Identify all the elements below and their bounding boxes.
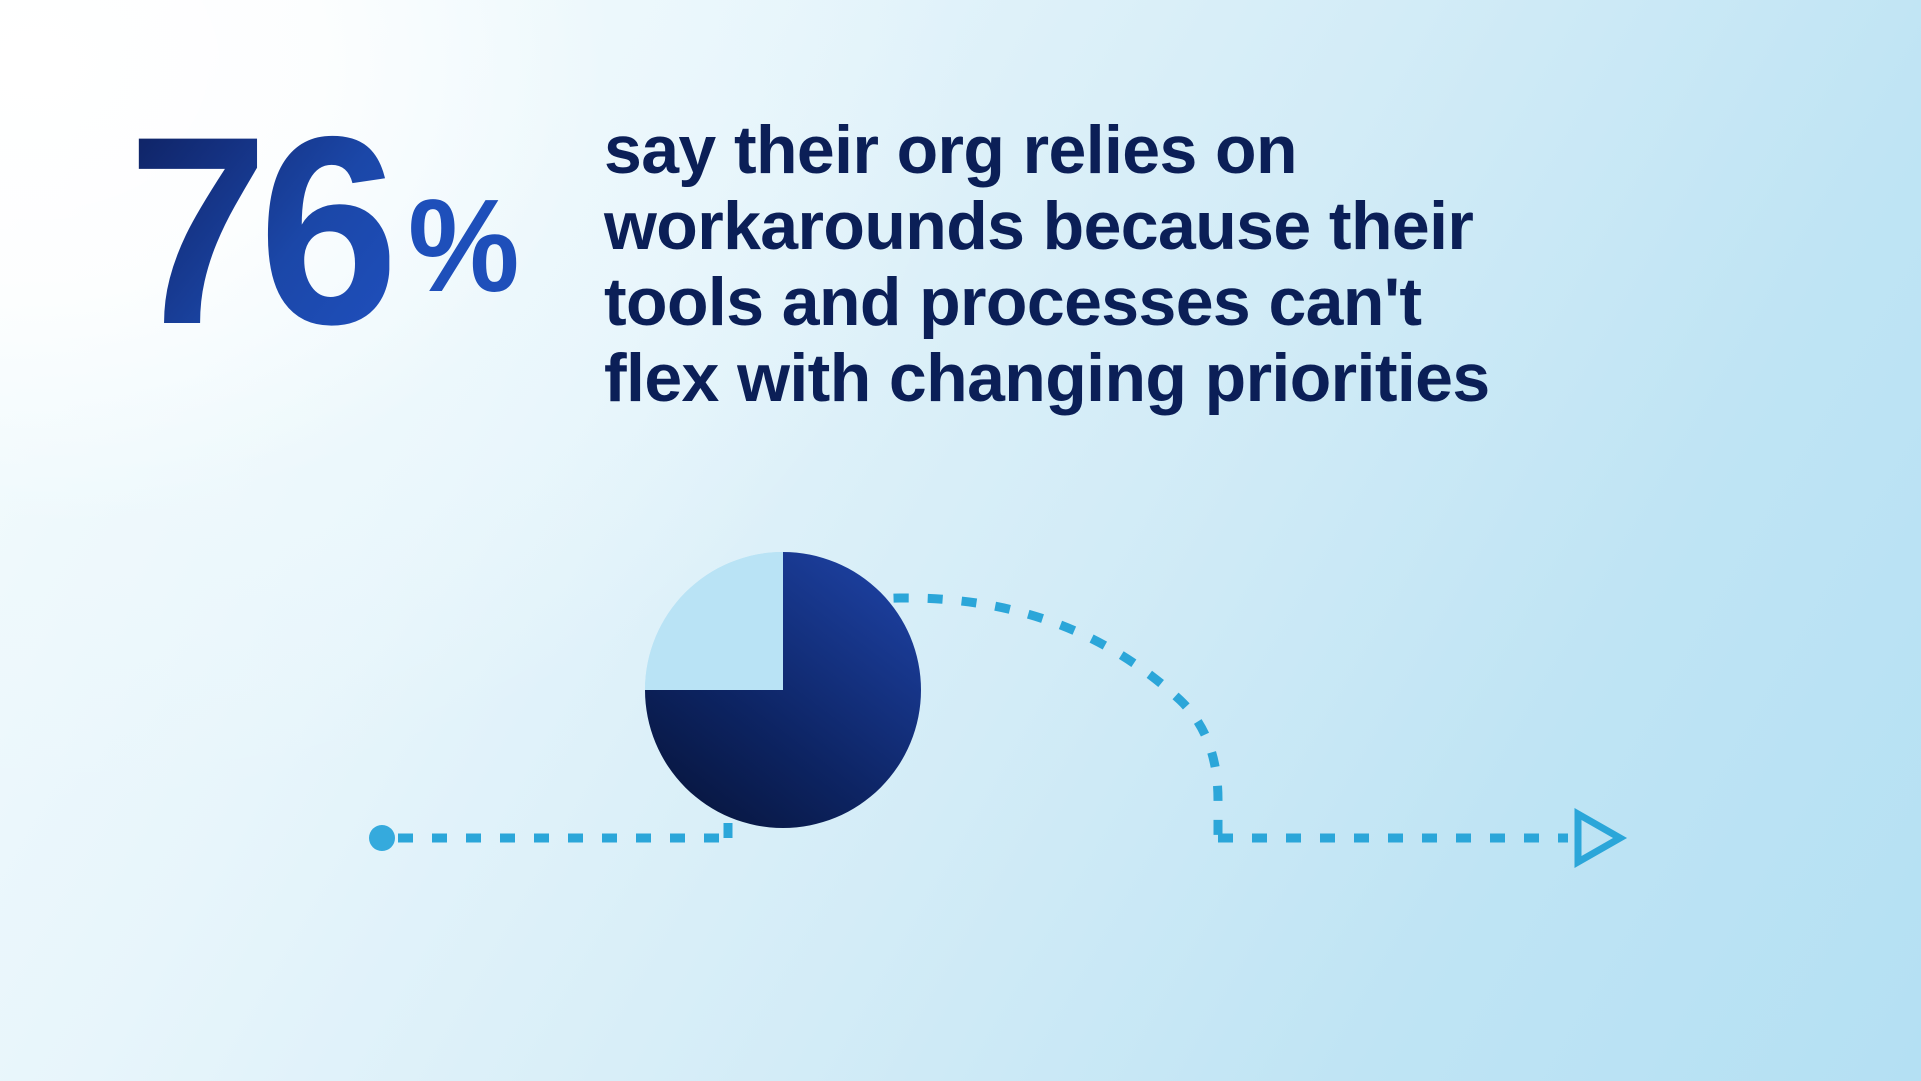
headline-line-1: say their org relies on — [604, 112, 1504, 188]
path-start-dot-icon — [369, 825, 395, 851]
headline-line-2: workarounds because their — [604, 188, 1504, 264]
path-arrow-icon — [1578, 814, 1620, 862]
pie-chart — [639, 546, 927, 834]
stat-headline-row: 76 % say their org relies on workarounds… — [0, 0, 1921, 440]
headline-line-3: tools and processes can't — [604, 264, 1504, 340]
infographic-canvas: 76 % say their org relies on workarounds… — [0, 0, 1921, 1081]
stat-percentage-number: 76 — [128, 96, 389, 364]
pie-slice-minor-overlay — [645, 552, 783, 690]
percent-symbol: % — [408, 180, 516, 312]
flow-path-graphic — [0, 440, 1921, 1081]
headline-text: say their org relies on workarounds beca… — [604, 112, 1504, 416]
headline-line-4: flex with changing priorities — [604, 340, 1504, 416]
